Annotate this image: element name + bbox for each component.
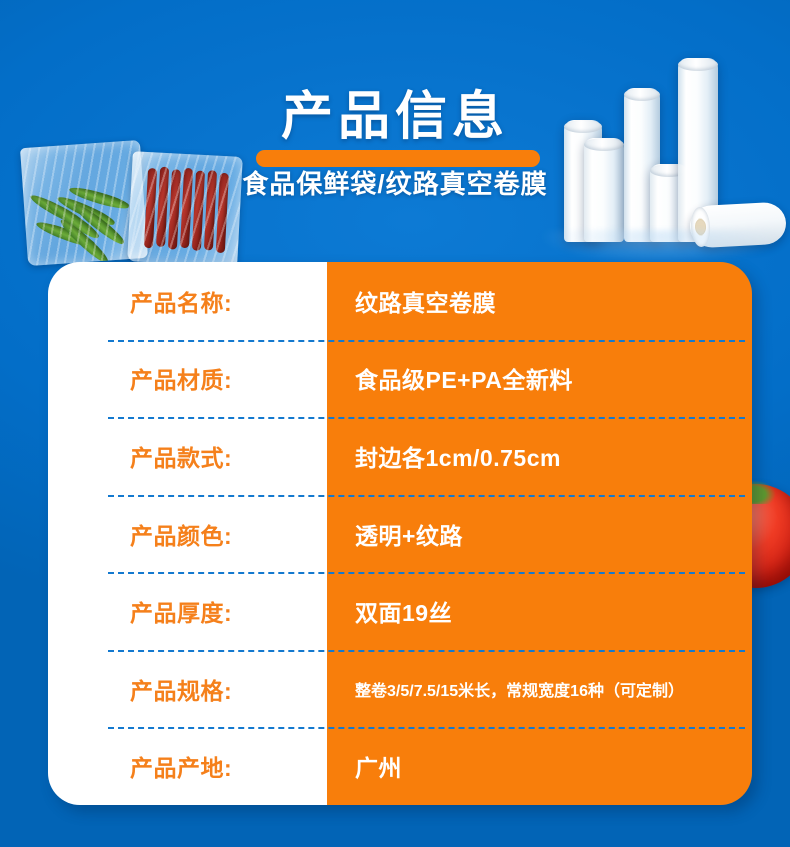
- row-value-style: 封边各1cm/0.75cm: [327, 439, 752, 473]
- row-label-material: 产品材质:: [48, 361, 327, 395]
- product-info-banner: 产品信息 食品保鲜袋/纹路真空卷膜 产品名称: 纹路真空卷膜 产品材质: 食品级…: [0, 0, 790, 847]
- page-subtitle: 食品保鲜袋/纹路真空卷膜: [0, 164, 790, 201]
- table-row: 产品规格: 整卷3/5/7.5/15米长，常规宽度16种（可定制）: [48, 650, 752, 728]
- row-label-thickness: 产品厚度:: [48, 594, 327, 628]
- table-row: 产品产地: 广州: [48, 727, 752, 805]
- row-value-origin: 广州: [327, 749, 752, 783]
- row-label-product-name: 产品名称:: [48, 284, 327, 318]
- row-label-color: 产品颜色:: [48, 517, 327, 551]
- row-value-product-name: 纹路真空卷膜: [327, 284, 752, 318]
- photo-floor-reflection: [542, 230, 782, 264]
- row-label-origin: 产品产地:: [48, 749, 327, 783]
- banner-header: 产品信息 食品保鲜袋/纹路真空卷膜: [0, 86, 790, 201]
- table-row: 产品材质: 食品级PE+PA全新料: [48, 340, 752, 418]
- product-info-table: 产品名称: 纹路真空卷膜 产品材质: 食品级PE+PA全新料 产品款式: 封边各…: [48, 262, 752, 805]
- table-row: 产品颜色: 透明+纹路: [48, 495, 752, 573]
- row-value-thickness: 双面19丝: [327, 594, 752, 628]
- table-row: 产品厚度: 双面19丝: [48, 572, 752, 650]
- row-value-color: 透明+纹路: [327, 517, 752, 551]
- product-info-card: 产品名称: 纹路真空卷膜 产品材质: 食品级PE+PA全新料 产品款式: 封边各…: [48, 262, 752, 805]
- page-title: 产品信息: [0, 86, 790, 148]
- table-row: 产品款式: 封边各1cm/0.75cm: [48, 417, 752, 495]
- table-row: 产品名称: 纹路真空卷膜: [48, 262, 752, 340]
- row-label-style: 产品款式:: [48, 439, 327, 473]
- row-value-specification: 整卷3/5/7.5/15米长，常规宽度16种（可定制）: [327, 677, 752, 701]
- row-label-specification: 产品规格:: [48, 672, 327, 706]
- row-value-material: 食品级PE+PA全新料: [327, 361, 752, 395]
